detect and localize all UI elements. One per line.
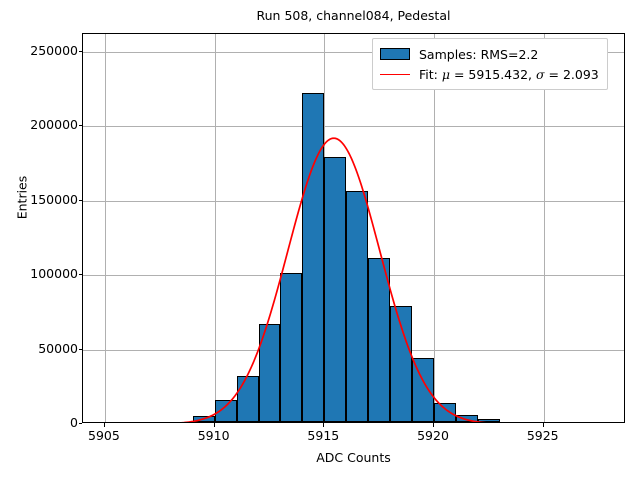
legend-patch-icon <box>380 48 410 60</box>
x-axis-label: ADC Counts <box>82 450 625 465</box>
y-tick-label: 50000 <box>38 341 78 356</box>
y-tick-label: 0 <box>70 415 78 430</box>
y-axis-label: Entries <box>15 98 30 298</box>
y-tick-mark <box>79 51 83 52</box>
legend-fit-sigma-value: = 2.093 <box>545 67 599 82</box>
y-tick-label: 250000 <box>30 43 78 58</box>
y-tick-mark <box>79 349 83 350</box>
gaussian-fit-curve <box>83 34 625 423</box>
x-tick-label: 5925 <box>513 428 573 443</box>
fit-curve-path <box>83 138 625 423</box>
y-tick-mark <box>79 274 83 275</box>
x-tick-label: 5915 <box>293 428 353 443</box>
y-tick-mark <box>79 423 83 424</box>
matplotlib-figure: Run 508, channel084, Pedestal 5905591059… <box>0 0 640 480</box>
x-tick-label: 5920 <box>403 428 463 443</box>
x-tick-mark <box>433 423 434 427</box>
legend-item-samples: Samples: RMS=2.2 <box>380 44 599 64</box>
chart-title: Run 508, channel084, Pedestal <box>82 8 625 24</box>
y-tick-label: 100000 <box>30 266 78 281</box>
legend-fit-sigma-symbol: σ <box>536 67 545 82</box>
y-tick-label: 150000 <box>30 192 78 207</box>
chart-legend: Samples: RMS=2.2 Fit: μ = 5915.432, σ = … <box>372 38 608 90</box>
y-tick-mark <box>79 200 83 201</box>
y-tick-label: 200000 <box>30 117 78 132</box>
legend-label-fit: Fit: μ = 5915.432, σ = 2.093 <box>419 67 599 82</box>
legend-fit-mu-symbol: μ <box>442 67 450 82</box>
legend-line-icon <box>380 74 410 75</box>
legend-item-fit: Fit: μ = 5915.432, σ = 2.093 <box>380 64 599 84</box>
legend-fit-prefix: Fit: <box>419 67 442 82</box>
plot-area <box>82 33 625 423</box>
x-tick-mark <box>543 423 544 427</box>
legend-fit-mu-value: = 5915.432, <box>450 67 536 82</box>
y-tick-mark <box>79 125 83 126</box>
legend-label-samples: Samples: RMS=2.2 <box>419 47 538 62</box>
x-tick-label: 5910 <box>184 428 244 443</box>
x-tick-mark <box>323 423 324 427</box>
x-tick-mark <box>214 423 215 427</box>
x-tick-label: 5905 <box>74 428 134 443</box>
x-tick-mark <box>104 423 105 427</box>
